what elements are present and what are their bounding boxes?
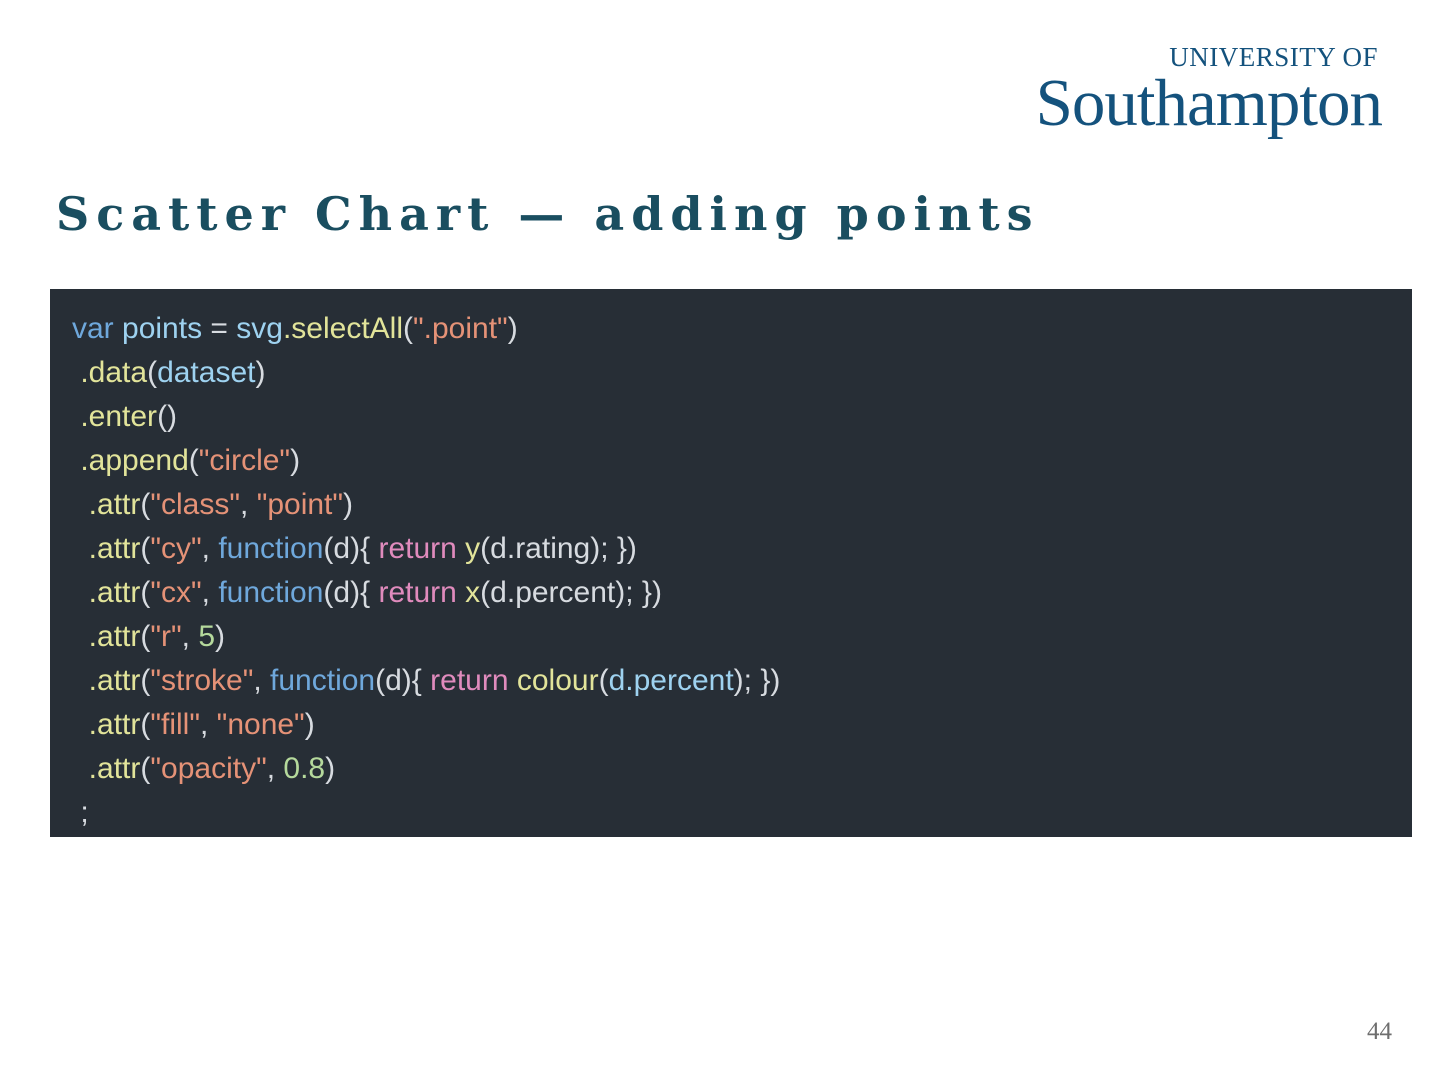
code-token: "class" bbox=[150, 488, 240, 521]
code-token: y bbox=[465, 532, 480, 565]
slide-title: Scatter Chart — adding points bbox=[56, 187, 1040, 241]
code-token: d.percent bbox=[609, 664, 734, 697]
code-token: ( bbox=[599, 664, 609, 697]
code-token: , bbox=[267, 752, 284, 785]
code-line: .data(dataset) bbox=[72, 351, 1412, 395]
code-token: ( bbox=[140, 708, 150, 741]
code-token: ".point" bbox=[413, 312, 508, 345]
code-token: ( bbox=[480, 532, 490, 565]
code-token: d.rating bbox=[490, 532, 590, 565]
code-token: .selectAll bbox=[283, 312, 403, 345]
code-token: ( bbox=[403, 312, 413, 345]
code-token: .attr bbox=[72, 752, 140, 785]
code-token: , bbox=[240, 488, 257, 521]
code-token: d.percent bbox=[490, 576, 615, 609]
code-line: .attr("r", 5) bbox=[72, 615, 1412, 659]
code-line: .attr("cx", function(d){ return x(d.perc… bbox=[72, 571, 1412, 615]
code-line: .enter() bbox=[72, 395, 1412, 439]
code-token: .attr bbox=[72, 664, 140, 697]
code-token: 0.8 bbox=[283, 752, 325, 785]
code-line: .attr("stroke", function(d){ return colo… bbox=[72, 659, 1412, 703]
code-token: "circle" bbox=[199, 444, 290, 477]
code-token: ( bbox=[140, 620, 150, 653]
code-token: ) bbox=[305, 708, 315, 741]
code-token: ; bbox=[72, 796, 89, 829]
code-token: , bbox=[202, 532, 219, 565]
code-token: = bbox=[210, 312, 236, 345]
code-token: ); }) bbox=[734, 664, 781, 697]
code-token: .attr bbox=[72, 620, 140, 653]
code-token: , bbox=[253, 664, 270, 697]
code-token: .attr bbox=[72, 576, 140, 609]
code-token: "point" bbox=[257, 488, 343, 521]
code-token: svg bbox=[236, 312, 283, 345]
code-token: return bbox=[430, 664, 517, 697]
code-token: ( bbox=[140, 488, 150, 521]
code-token: function bbox=[270, 664, 375, 697]
code-token: "stroke" bbox=[150, 664, 253, 697]
code-token: ) bbox=[325, 752, 335, 785]
code-token: ( bbox=[147, 356, 157, 389]
code-token: ( bbox=[140, 576, 150, 609]
code-token: points bbox=[122, 312, 210, 345]
code-token: ( bbox=[140, 752, 150, 785]
code-token: .data bbox=[72, 356, 147, 389]
code-line: .attr("class", "point") bbox=[72, 483, 1412, 527]
code-line: .attr("fill", "none") bbox=[72, 703, 1412, 747]
code-token: ) bbox=[255, 356, 265, 389]
code-token: ( bbox=[140, 532, 150, 565]
code-line: .attr("cy", function(d){ return y(d.rati… bbox=[72, 527, 1412, 571]
code-token: .attr bbox=[72, 488, 140, 521]
code-token: () bbox=[157, 400, 177, 433]
code-token: var bbox=[72, 312, 122, 345]
code-token: function bbox=[218, 532, 323, 565]
code-line: .attr("opacity", 0.8) bbox=[72, 747, 1412, 791]
code-line: ; bbox=[72, 791, 1412, 835]
code-token: ( bbox=[480, 576, 490, 609]
code-token: ( bbox=[189, 444, 199, 477]
code-token: (d){ bbox=[375, 664, 430, 697]
code-token: ) bbox=[215, 620, 225, 653]
code-token: .append bbox=[72, 444, 189, 477]
code-token: "fill" bbox=[150, 708, 200, 741]
logo-southampton-text: Southampton bbox=[1036, 72, 1382, 136]
code-block: var points = svg.selectAll(".point") .da… bbox=[50, 289, 1412, 837]
code-token: ) bbox=[508, 312, 518, 345]
code-token: , bbox=[182, 620, 199, 653]
code-token: , bbox=[200, 708, 217, 741]
code-lines-container: var points = svg.selectAll(".point") .da… bbox=[72, 307, 1412, 835]
code-token: function bbox=[218, 576, 323, 609]
code-token: colour bbox=[517, 664, 599, 697]
code-line: .append("circle") bbox=[72, 439, 1412, 483]
code-token: "cy" bbox=[150, 532, 201, 565]
code-token: x bbox=[465, 576, 480, 609]
code-token: .attr bbox=[72, 532, 140, 565]
code-token: (d){ bbox=[323, 532, 378, 565]
code-token: return bbox=[378, 532, 465, 565]
code-token: dataset bbox=[157, 356, 255, 389]
code-token: , bbox=[202, 576, 219, 609]
code-token: "none" bbox=[217, 708, 305, 741]
code-token: ) bbox=[343, 488, 353, 521]
code-token: "cx" bbox=[150, 576, 201, 609]
code-token: ( bbox=[140, 664, 150, 697]
code-token: return bbox=[378, 576, 465, 609]
code-token: .enter bbox=[72, 400, 157, 433]
page-number: 44 bbox=[1367, 1018, 1392, 1046]
code-token: ); }) bbox=[615, 576, 662, 609]
university-logo: UNIVERSITY OF Southampton bbox=[1036, 44, 1382, 136]
code-token: ) bbox=[290, 444, 300, 477]
code-token: ); }) bbox=[590, 532, 637, 565]
code-token: 5 bbox=[198, 620, 215, 653]
code-token: .attr bbox=[72, 708, 140, 741]
code-token: "r" bbox=[150, 620, 181, 653]
code-line: var points = svg.selectAll(".point") bbox=[72, 307, 1412, 351]
code-token: (d){ bbox=[323, 576, 378, 609]
code-token: "opacity" bbox=[150, 752, 266, 785]
